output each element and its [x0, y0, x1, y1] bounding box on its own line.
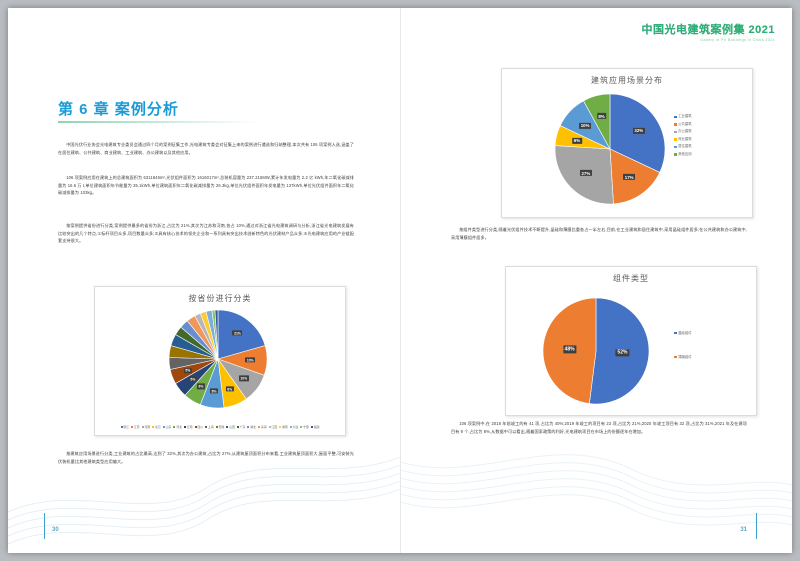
legend-swatch [674, 332, 677, 335]
legend-item: 安徽 [216, 425, 225, 429]
chart-title-province: 按省份进行分类 [95, 293, 345, 304]
paragraph-intro: 中国光伏行业协会光电建筑专业委员会通过四个月的案例征集工作,光电建筑专委会对征集… [58, 141, 354, 156]
chart-legend-scene: 工业建筑公共建筑办公建筑商业建筑居住建筑其他应用 [674, 113, 692, 159]
legend-swatch [163, 426, 165, 428]
legend-item: 晶硅组件 [674, 321, 692, 345]
legend-swatch [205, 426, 207, 428]
paragraph-completion-year: 106 项案例中,在 2018 年前竣工的有 41 项,占比为 40%;2019… [451, 420, 747, 435]
paragraph-scene: 按建筑应用场景进行分类,工业建筑的占比最高,达到了 32%,其次为办公建筑,占比… [58, 450, 354, 465]
chart-card-module: 组件类型 52%48% 晶硅组件薄膜组件 [505, 266, 757, 416]
chart-card-province: 按省份进行分类 21%10%10%8%8%6%5%5% 浙江江苏河南北京山东河北… [94, 286, 346, 436]
legend-label: 薄膜组件 [678, 345, 692, 369]
legend-label: 广东 [240, 425, 246, 429]
legend-label: 山西 [229, 425, 235, 429]
legend-label: 安徽 [219, 425, 225, 429]
legend-swatch [674, 138, 677, 141]
legend-swatch [258, 426, 260, 428]
legend-label: 江苏 [134, 425, 140, 429]
legend-swatch [131, 426, 133, 428]
legend-label: 晶硅组件 [678, 321, 692, 345]
legend-item: 河北 [173, 425, 182, 429]
legend-item: 江苏 [131, 425, 140, 429]
legend-item: 上海 [205, 425, 214, 429]
legend-label: 公共建筑 [678, 121, 692, 129]
legend-item: 云南 [184, 425, 193, 429]
legend-swatch [311, 426, 313, 428]
legend-item: 河南 [142, 425, 151, 429]
pie-data-label: 27% [580, 170, 592, 176]
legend-item: 其他应用 [674, 151, 692, 159]
legend-item: 山东 [163, 425, 172, 429]
page-marker-left [44, 513, 45, 539]
page-number-right: 31 [740, 527, 747, 533]
legend-label: 居住建筑 [678, 143, 692, 151]
legend-swatch [674, 116, 677, 119]
legend-swatch [290, 426, 292, 428]
legend-swatch [674, 131, 677, 134]
pie-data-label: 17% [623, 174, 635, 180]
pie-module-svg [542, 297, 650, 405]
legend-item: 办公建筑 [674, 128, 692, 136]
pie-data-label: 5% [189, 377, 197, 382]
chart-legend-province: 浙江江苏河南北京山东河北云南四川上海安徽山西广东湖北青海江西湖南大连宁夏福建 [95, 425, 345, 430]
legend-label: 河北 [176, 425, 182, 429]
legend-item: 工业建筑 [674, 113, 692, 121]
header-title: 中国光电建筑案例集 2021 [641, 24, 775, 36]
pie-chart-province: 21%10%10%8%8%6%5%5% [157, 309, 279, 409]
legend-swatch [674, 146, 677, 149]
legend-label: 湖北 [250, 425, 256, 429]
paragraph-province: 按案例提供省份进行分类,案例提供最多的省份为浙江,占比为 21%,其次为江苏和河… [58, 222, 354, 245]
chapter-title: 第 6 章 案例分析 [58, 98, 179, 119]
legend-label: 四川 [197, 425, 203, 429]
legend-item: 居住建筑 [674, 143, 692, 151]
legend-item: 湖南 [279, 425, 288, 429]
legend-label: 宁夏 [303, 425, 309, 429]
legend-label: 湖南 [282, 425, 288, 429]
legend-swatch [237, 426, 239, 428]
legend-swatch [279, 426, 281, 428]
legend-item: 四川 [195, 425, 204, 429]
legend-label: 福建 [314, 425, 320, 429]
pie-data-label: 6% [197, 384, 205, 389]
header-subtitle: Gallery of PV Buildings in China 2021 [641, 38, 775, 42]
legend-label: 北京 [155, 425, 161, 429]
pie-chart-scene: 32%17%27%6%10%8% [554, 93, 666, 205]
pie-data-label: 10% [239, 376, 249, 381]
pie-data-label: 8% [226, 387, 234, 392]
legend-item: 福建 [311, 425, 320, 429]
legend-item: 北京 [152, 425, 161, 429]
legend-label: 商业建筑 [678, 136, 692, 144]
chart-title-module: 组件类型 [506, 273, 756, 284]
pie-data-label: 21% [232, 331, 242, 336]
paragraph-statistics: 106 项案例应用在建筑上的总建筑面积为 6311845m²,光伏组件面积为 1… [58, 174, 354, 197]
page-left: 第 6 章 案例分析 中国光伏行业协会光电建筑专业委员会通过四个月的案例征集工作… [8, 8, 400, 553]
chart-legend-module: 晶硅组件薄膜组件 [674, 321, 692, 369]
legend-swatch [674, 123, 677, 126]
legend-item: 江西 [269, 425, 278, 429]
page-right: 中国光电建筑案例集 2021 Gallery of PV Buildings i… [400, 8, 792, 553]
page-number-left: 30 [52, 527, 59, 533]
pie-chart-module: 52%48% [542, 297, 650, 405]
legend-label: 其他应用 [678, 151, 692, 159]
pie-data-label: 8% [210, 389, 218, 394]
legend-label: 大连 [293, 425, 299, 429]
legend-label: 工业建筑 [678, 113, 692, 121]
legend-label: 浙江 [123, 425, 129, 429]
pie-data-label: 32% [633, 128, 645, 134]
legend-swatch [184, 426, 186, 428]
legend-item: 广东 [237, 425, 246, 429]
legend-item: 宁夏 [300, 425, 309, 429]
chart-title-scene: 建筑应用场景分布 [502, 75, 752, 86]
legend-label: 云南 [187, 425, 193, 429]
pie-scene-svg [554, 93, 666, 205]
legend-item: 公共建筑 [674, 121, 692, 129]
pie-data-label: 6% [572, 137, 582, 143]
legend-label: 河南 [144, 425, 150, 429]
pie-province-svg [157, 309, 279, 409]
legend-label: 山东 [166, 425, 172, 429]
legend-swatch [674, 153, 677, 156]
legend-swatch [152, 426, 154, 428]
legend-swatch [674, 356, 677, 359]
legend-item: 浙江 [121, 425, 130, 429]
legend-item: 薄膜组件 [674, 345, 692, 369]
legend-swatch [226, 426, 228, 428]
legend-label: 办公建筑 [678, 128, 692, 136]
legend-item: 山西 [226, 425, 235, 429]
legend-swatch [216, 426, 218, 428]
legend-item: 湖北 [247, 425, 256, 429]
running-header: 中国光电建筑案例集 2021 Gallery of PV Buildings i… [641, 24, 775, 42]
pie-data-label: 10% [245, 357, 255, 362]
legend-label: 江西 [271, 425, 277, 429]
chart-card-scene: 建筑应用场景分布 32%17%27%6%10%8% 工业建筑公共建筑办公建筑商业… [501, 68, 753, 218]
legend-item: 青海 [258, 425, 267, 429]
pie-data-label: 52% [616, 349, 629, 356]
pie-data-label: 48% [563, 346, 576, 353]
legend-item: 大连 [290, 425, 299, 429]
pie-data-label: 10% [579, 123, 591, 129]
legend-label: 青海 [261, 425, 267, 429]
legend-label: 上海 [208, 425, 214, 429]
chapter-underline [58, 121, 258, 123]
pie-data-label: 5% [184, 368, 192, 373]
legend-item: 商业建筑 [674, 136, 692, 144]
paragraph-module-type: 按组件类型进行分类,随着光伏组件技术不断提升,晶硅和薄膜比重各占一半左右,目前,… [451, 226, 747, 241]
document-spread: 第 6 章 案例分析 中国光伏行业协会光电建筑专业委员会通过四个月的案例征集工作… [8, 8, 792, 553]
pie-data-label: 8% [597, 113, 607, 119]
page-marker-right [756, 513, 757, 539]
